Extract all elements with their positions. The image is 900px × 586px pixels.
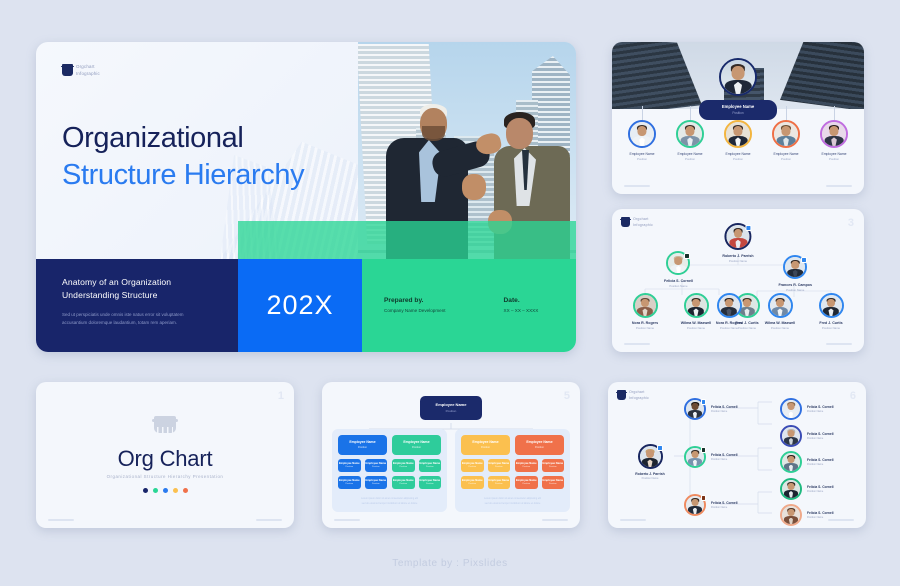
panel-note: Lorem ipsum dolor sit amet consectetur a… (338, 497, 441, 506)
slide-number: 1 (278, 390, 284, 402)
status-badge (701, 447, 707, 453)
status-badge (746, 225, 752, 231)
node-position: Position Name (722, 259, 753, 263)
node-name: Nora R. Rogers (624, 321, 666, 325)
orgchart-mark-icon (154, 416, 176, 438)
child-box[interactable]: Employee Name Position (338, 476, 361, 489)
node-position: Position Name (626, 477, 674, 480)
tree-node-leaf[interactable]: Felicia S. Cornell Position Name (780, 504, 834, 526)
member-position: Position (668, 157, 712, 161)
slide-footer (624, 185, 852, 187)
bar-paragraph-line-1: Sed ut perspiciatis unde omnis iste natu… (62, 312, 184, 317)
date-value: XX – XX – XXXX (504, 308, 539, 313)
node-position: Position Name (711, 410, 738, 413)
avatar (719, 58, 757, 96)
child-position: Position (542, 466, 565, 468)
node-name: Fred J. Curtis (810, 321, 852, 325)
node-name: Roberto J. Parrish (722, 254, 753, 258)
slide-team-card[interactable]: 2 Employee Name Position Employee Name P… (612, 42, 864, 194)
member-name: Employee Name (668, 152, 712, 156)
group-name: Employee Name (338, 440, 387, 444)
avatar (780, 451, 802, 473)
member-name: Employee Name (764, 152, 808, 156)
node-position: Position Name (807, 437, 834, 440)
node-position: Position Name (708, 326, 750, 330)
child-box[interactable]: Employee Name Position (461, 476, 484, 489)
slide-footer (334, 519, 568, 521)
node-name: Frances R. Campos (778, 283, 812, 287)
child-name: Employee Name (488, 462, 511, 465)
connector-line (642, 106, 643, 120)
child-position: Position (461, 466, 484, 468)
status-badge (657, 445, 663, 451)
child-box[interactable]: Employee Name Position (338, 459, 361, 472)
title-bottom-bar: Anatomy of an Organization Understanding… (36, 259, 576, 352)
child-box[interactable]: Employee Name Position (515, 476, 538, 489)
child-box[interactable]: Employee Name Position (488, 476, 511, 489)
child-position: Position (419, 483, 442, 485)
group-children-grid: Employee Name Position Employee Name Pos… (338, 459, 441, 490)
tree-right-column: Felicia S. Cornell Position Name Felicia… (780, 398, 834, 528)
child-name: Employee Name (515, 462, 538, 465)
child-box[interactable]: Employee Name Position (515, 459, 538, 472)
member-name: Employee Name (620, 152, 664, 156)
status-badge (701, 399, 707, 405)
avatar (780, 425, 802, 447)
year-value: 202X (266, 290, 333, 321)
brand-logo: Orgchart Infographic (62, 64, 100, 76)
avatar (820, 120, 848, 148)
chart-panel-left: Employee Name Position Employee Name Pos… (332, 429, 447, 512)
color-dot (183, 488, 188, 493)
group-header-box[interactable]: Employee Name Position (338, 435, 387, 455)
child-name: Employee Name (392, 462, 415, 465)
group-name: Employee Name (515, 440, 564, 444)
avatar (633, 293, 658, 318)
tree-node-leaf[interactable]: Felicia S. Cornell Position Name (780, 478, 834, 500)
avatar (819, 293, 844, 318)
slide-box-chart-card[interactable]: 5 Employee Name Position Employee Name P… (322, 382, 580, 528)
group-position: Position (392, 446, 441, 449)
list-item[interactable]: Employee Name Position (668, 120, 712, 161)
cover-title: Org Chart (36, 446, 294, 472)
title-line-1: Organizational (62, 122, 243, 154)
note-line-2: sed do eiusmod tempor incididunt ut labo… (362, 502, 418, 505)
node-name: Felicia S. Cornell (711, 501, 738, 505)
tree-node-leaf[interactable]: Felicia S. Cornell Position Name (780, 398, 834, 420)
green-photo-overlay (238, 221, 576, 259)
child-position: Position (338, 466, 361, 468)
tree-node-ceo[interactable]: Roberto J. Parrish Position Name (722, 223, 753, 263)
child-position: Position (338, 483, 361, 485)
member-name: Employee Name (716, 152, 760, 156)
connector-line (786, 106, 787, 120)
child-name: Employee Name (419, 479, 442, 482)
node-name: Nora R. Rogers (708, 321, 750, 325)
tree-node-leaf[interactable]: Felicia S. Cornell Position Name (780, 425, 834, 447)
tree-node-leaf[interactable]: Nora R. Rogers Position Name (624, 293, 666, 330)
slide-cover-card[interactable]: 1 Org Chart Organizational Structure Hie… (36, 382, 294, 528)
member-position: Position (620, 157, 664, 161)
avatar (780, 398, 802, 420)
slide-footer (48, 519, 282, 521)
child-position: Position (488, 483, 511, 485)
node-position: Position Name (807, 490, 834, 493)
member-position: Position (716, 157, 760, 161)
color-dot (143, 488, 148, 493)
node-name: Felicia S. Cornell (664, 279, 693, 283)
color-dot (163, 488, 168, 493)
avatar (780, 478, 802, 500)
child-box[interactable]: Employee Name Position (419, 476, 442, 489)
tree-node-leaf[interactable]: Felicia S. Cornell Position Name (780, 451, 834, 473)
child-box[interactable]: Employee Name Position (419, 459, 442, 472)
child-position: Position (365, 466, 388, 468)
child-name: Employee Name (461, 462, 484, 465)
panel-note: Lorem ipsum dolor sit amet consectetur a… (461, 497, 564, 506)
brand-line-1: Orgchart (76, 64, 100, 70)
node-name: Felicia S. Cornell (711, 453, 738, 457)
template-credit: Template by : Pixslides (0, 558, 900, 569)
tree-node-root[interactable]: Roberto J. Parrish Position Name (626, 444, 674, 480)
boss-name: Employee Name (699, 104, 777, 109)
tree-node-leaf[interactable]: Wilma W. Maxwell Position Name (759, 293, 801, 330)
bar-heading-line-2: Understanding Structure (62, 290, 157, 300)
tree-node-leaf[interactable]: Fred J. Curtis Position Name (810, 293, 852, 330)
meta-panel: Prepared by. Company Name Development Da… (362, 259, 576, 352)
child-box[interactable]: Employee Name Position (365, 459, 388, 472)
status-badge (701, 495, 707, 501)
prepared-by-block: Prepared by. Company Name Development (384, 297, 446, 313)
child-name: Employee Name (365, 479, 388, 482)
tree-node-middle[interactable]: Felicia S. Cornell Position Name (684, 494, 738, 516)
child-name: Employee Name (542, 462, 565, 465)
avatar (768, 293, 793, 318)
tree-node-manager-left[interactable]: Felicia S. Cornell Position Name (664, 251, 693, 288)
chart-panel-right: Employee Name Position Employee Name Pos… (455, 429, 570, 512)
connector-line (690, 106, 691, 120)
child-box[interactable]: Employee Name Position (542, 476, 565, 489)
cover-subtitle: Organizational Structure Hierarchy Prese… (36, 474, 294, 479)
tree-node-leaf[interactable]: Nora R. Rogers Position Name (708, 293, 750, 330)
tree-node-middle[interactable]: Felicia S. Cornell Position Name (684, 446, 738, 468)
subtitle-panel: Anatomy of an Organization Understanding… (36, 259, 238, 352)
title-line-2: Structure Hierarchy (62, 157, 304, 194)
slide-title-card[interactable]: Orgchart Infographic Organizational Stru… (36, 42, 576, 352)
note-line-1: Lorem ipsum dolor sit amet consectetur a… (484, 497, 541, 500)
tree-node-middle[interactable]: Felicia S. Cornell Position Name (684, 398, 738, 420)
child-box[interactable]: Employee Name Position (392, 459, 415, 472)
node-name: Felicia S. Cornell (807, 405, 834, 409)
list-item[interactable]: Employee Name Position (716, 120, 760, 161)
note-line-1: Lorem ipsum dolor sit amet consectetur a… (361, 497, 418, 500)
tree-leaf-row-right: Nora R. Rogers Position Name Wilma W. Ma… (708, 293, 852, 330)
avatar (684, 293, 709, 318)
child-position: Position (515, 466, 538, 468)
group-headers: Employee Name Position Employee Name Pos… (338, 435, 441, 455)
child-name: Employee Name (419, 462, 442, 465)
node-name: Wilma W. Maxwell (759, 321, 801, 325)
boss-position: Position (699, 111, 777, 115)
tree-middle-column: Felicia S. Cornell Position Name Felicia… (684, 398, 738, 528)
child-position: Position (461, 483, 484, 485)
slide-circle-tree-card[interactable]: 3 Orgchart Infographic Roberto J. Parris… (612, 209, 864, 352)
list-item[interactable]: Employee Name Position (812, 120, 856, 161)
group-name: Employee Name (461, 440, 510, 444)
member-position: Position (812, 157, 856, 161)
child-position: Position (392, 483, 415, 485)
bar-heading-line-1: Anatomy of an Organization (62, 277, 171, 287)
child-name: Employee Name (338, 462, 361, 465)
member-name: Employee Name (812, 152, 856, 156)
note-line-2: sed do eiusmod tempor incididunt ut labo… (485, 502, 541, 505)
list-item[interactable]: Employee Name Position (764, 120, 808, 161)
brand-line-2: Infographic (76, 71, 100, 77)
child-box[interactable]: Employee Name Position (542, 459, 565, 472)
bar-paragraph-line-2: accusantium doloremque laudantium, totam… (62, 320, 177, 325)
child-position: Position (488, 466, 511, 468)
tree-node-manager-right[interactable]: Frances R. Campos Position Name (778, 255, 812, 292)
avatar (780, 504, 802, 526)
child-name: Employee Name (338, 479, 361, 482)
boss-label-pill: Employee Name Position (699, 100, 777, 120)
prepared-by-label: Prepared by. (384, 297, 446, 304)
slide-lateral-tree-card[interactable]: 6 Orgchart Infographic Roberto J. Parris… (608, 382, 866, 528)
group-header-box[interactable]: Employee Name Position (461, 435, 510, 455)
child-box[interactable]: Employee Name Position (461, 459, 484, 472)
child-position: Position (392, 466, 415, 468)
node-position: Position Name (778, 288, 812, 292)
node-position: Position Name (624, 326, 666, 330)
chart-panels: Employee Name Position Employee Name Pos… (332, 429, 570, 512)
member-position: Position (764, 157, 808, 161)
child-name: Employee Name (542, 479, 565, 482)
page-title: Organizational Structure Hierarchy (62, 120, 304, 194)
node-position: Position Name (807, 410, 834, 413)
child-name: Employee Name (392, 479, 415, 482)
status-badge (684, 253, 690, 259)
year-panel: 202X (238, 259, 362, 352)
child-position: Position (365, 483, 388, 485)
status-badge (801, 257, 807, 263)
node-position: Position Name (759, 326, 801, 330)
skyline-tower-right-icon (780, 42, 864, 109)
group-header-box[interactable]: Employee Name Position (392, 435, 441, 455)
list-item[interactable]: Employee Name Position (620, 120, 664, 161)
avatar (717, 293, 742, 318)
group-name: Employee Name (392, 440, 441, 444)
node-name: Felicia S. Cornell (711, 405, 738, 409)
node-position: Position Name (664, 284, 693, 288)
child-name: Employee Name (461, 479, 484, 482)
child-position: Position (515, 483, 538, 485)
connector-line (834, 106, 835, 120)
node-name: Felicia S. Cornell (807, 432, 834, 436)
child-name: Employee Name (515, 479, 538, 482)
avatar (772, 120, 800, 148)
node-position: Position Name (711, 458, 738, 461)
node-position: Position Name (807, 463, 834, 466)
color-dot (173, 488, 178, 493)
avatar (724, 120, 752, 148)
child-box[interactable]: Employee Name Position (365, 476, 388, 489)
group-position: Position (338, 446, 387, 449)
team-member-row: Employee Name Position Employee Name Pos… (620, 120, 856, 161)
group-header-box[interactable]: Employee Name Position (515, 435, 564, 455)
group-children-grid: Employee Name Position Employee Name Pos… (461, 459, 564, 490)
orgchart-mark-icon (62, 64, 73, 76)
avatar (628, 120, 656, 148)
node-name: Felicia S. Cornell (807, 458, 834, 462)
node-position: Position Name (711, 506, 738, 509)
avatar (676, 120, 704, 148)
group-position: Position (515, 446, 564, 449)
date-block: Date. XX – XX – XXXX (504, 297, 539, 313)
node-name: Felicia S. Cornell (807, 511, 834, 515)
child-name: Employee Name (365, 462, 388, 465)
node-name: Roberto J. Parrish (626, 472, 674, 476)
node-name: Felicia S. Cornell (807, 485, 834, 489)
child-position: Position (542, 483, 565, 485)
child-position: Position (419, 466, 442, 468)
skyline-tower-left-icon (612, 42, 702, 109)
date-label: Date. (504, 297, 539, 304)
slide-footer (624, 343, 852, 345)
child-name: Employee Name (488, 479, 511, 482)
slide-footer (620, 519, 854, 521)
color-dots (36, 488, 294, 493)
color-dot (153, 488, 158, 493)
child-box[interactable]: Employee Name Position (488, 459, 511, 472)
prepared-by-value: Company Name Development (384, 308, 446, 313)
child-box[interactable]: Employee Name Position (392, 476, 415, 489)
group-headers: Employee Name Position Employee Name Pos… (461, 435, 564, 455)
node-position: Position Name (810, 326, 852, 330)
group-position: Position (461, 446, 510, 449)
